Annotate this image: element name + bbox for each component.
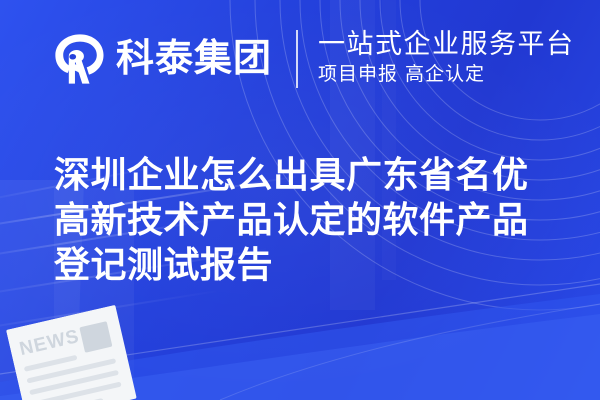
ketai-circular-logo-icon (52, 31, 108, 87)
tagline-sub: 项目申报 高企认定 (318, 62, 575, 88)
promo-banner: 科泰集团 一站式企业服务平台 项目申报 高企认定 深圳企业怎么出具广东省名优高新… (0, 0, 600, 400)
page-title: 深圳企业怎么出具广东省名优高新技术产品认定的软件产品登记测试报告 (54, 152, 554, 287)
tagline-main: 一站式企业服务平台 (318, 30, 575, 60)
header-divider (296, 30, 298, 88)
tagline-group: 一站式企业服务平台 项目申报 高企认定 (318, 30, 575, 88)
brand-header: 科泰集团 一站式企业服务平台 项目申报 高企认定 (52, 26, 575, 92)
brand-name: 科泰集团 (116, 40, 272, 78)
